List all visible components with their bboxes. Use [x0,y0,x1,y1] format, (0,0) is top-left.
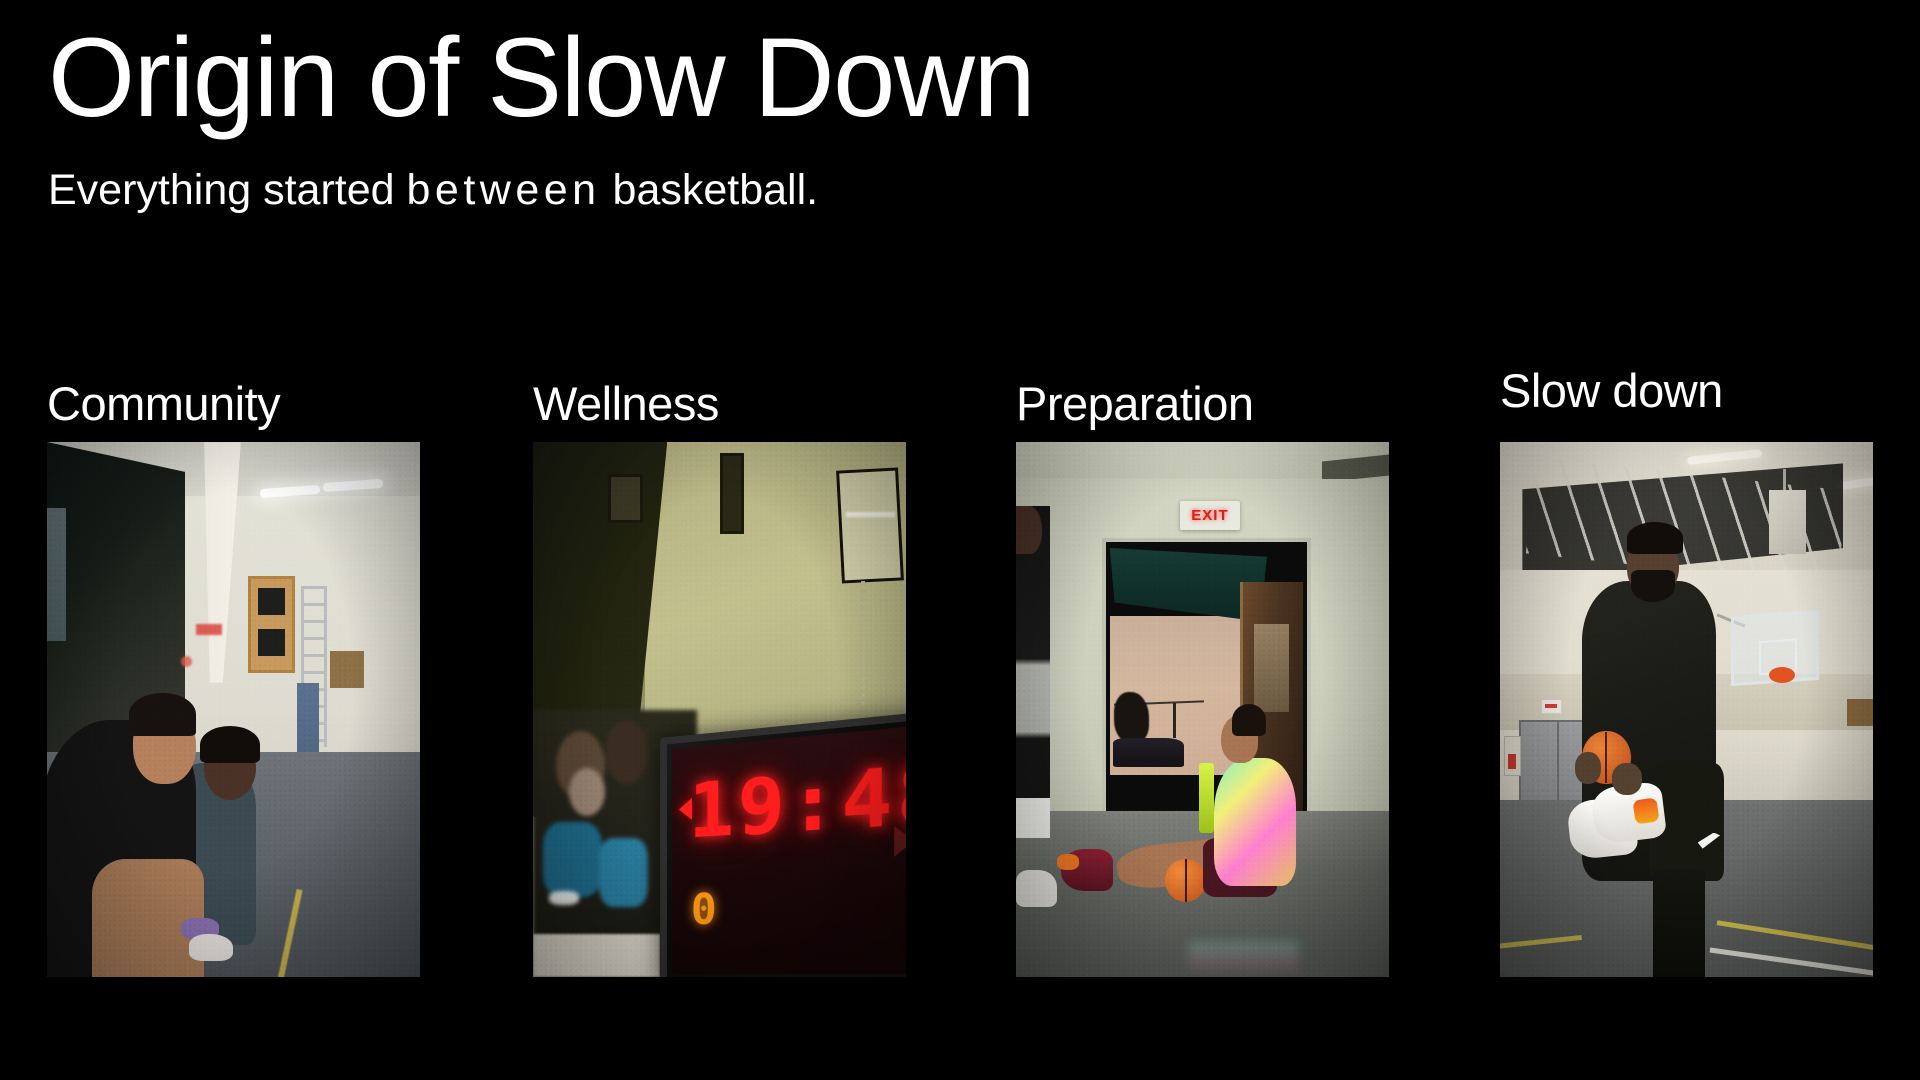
hoop-rim [1769,667,1795,683]
pillar-label-wellness: Wellness [533,380,906,442]
hanging-chain [861,581,865,709]
tights [1653,870,1705,977]
pillar-label-slow-down: Slow down [1500,367,1873,442]
photo-scoreboard-clock: 19:48 0 [533,442,906,977]
pillar-label-preparation: Preparation [1016,380,1389,442]
exit-sign [1541,699,1562,714]
shoe [189,934,234,961]
person-blur [543,822,602,897]
exit-sign-label: EXIT [1191,507,1228,524]
tree [1114,692,1150,743]
pillar-preparation[interactable]: Preparation EXIT [1016,380,1389,977]
pillar-columns: Community [0,0,1920,1080]
exit-sign: EXIT [1180,501,1240,530]
hair [129,693,196,736]
fire-extinguisher-cabinet [1504,736,1521,775]
red-sign [196,624,222,635]
highlight [549,891,579,904]
picture-frame [720,453,745,534]
door-window [1254,624,1289,712]
light-streak [846,512,894,517]
white-shoe [1016,870,1057,907]
scoreboard-secondary: 0 [691,888,717,932]
photo-gym-hallway-two-men-on-bench [47,442,420,977]
person-blur [599,838,648,908]
pillar-community[interactable]: Community [47,380,420,977]
court-line [1717,920,1873,951]
pillar-slow-down[interactable]: Slow down [1500,367,1873,977]
court-line [278,889,303,977]
scoreboard: 19:48 0 [660,710,906,977]
person-blur [605,720,648,784]
glass-panel [47,508,66,641]
photo-man-sitting-by-exit-door: EXIT [1016,442,1389,977]
wooden-door [248,576,295,673]
floor-reflection [1188,941,1300,977]
gym-floor [1016,811,1389,977]
wall-panel [330,651,364,688]
photo-man-holding-ball-and-sneakers [1500,442,1873,977]
framed-certificate [836,467,904,583]
sneaker-accent [1633,798,1660,825]
scoreboard-time: 19:48 [688,753,906,850]
water-bottle [1199,763,1214,833]
tie-dye-shirt [1214,758,1296,886]
pillar-label-community: Community [47,380,420,442]
court-line [1709,948,1873,977]
hair [1627,522,1683,554]
sneaker-accent [1057,854,1079,870]
paper-sheet [533,934,660,977]
person-blur [569,768,605,816]
court-line [1500,935,1582,950]
standing-person [1016,506,1050,838]
picture-frame [608,474,644,523]
scoreboard-screen: 19:48 0 [672,725,906,976]
hair [1232,704,1266,736]
slide-root: Origin of Slow Down Everything started b… [0,0,1920,1080]
legs [92,859,204,977]
utility-pole [1173,703,1176,738]
head [1016,506,1042,554]
wall-panel [1847,699,1873,726]
pillar-wellness[interactable]: Wellness [533,380,906,977]
hand [1612,763,1642,795]
hair [200,726,260,763]
parked-car [1113,738,1184,767]
ceiling-speaker [1769,490,1806,554]
